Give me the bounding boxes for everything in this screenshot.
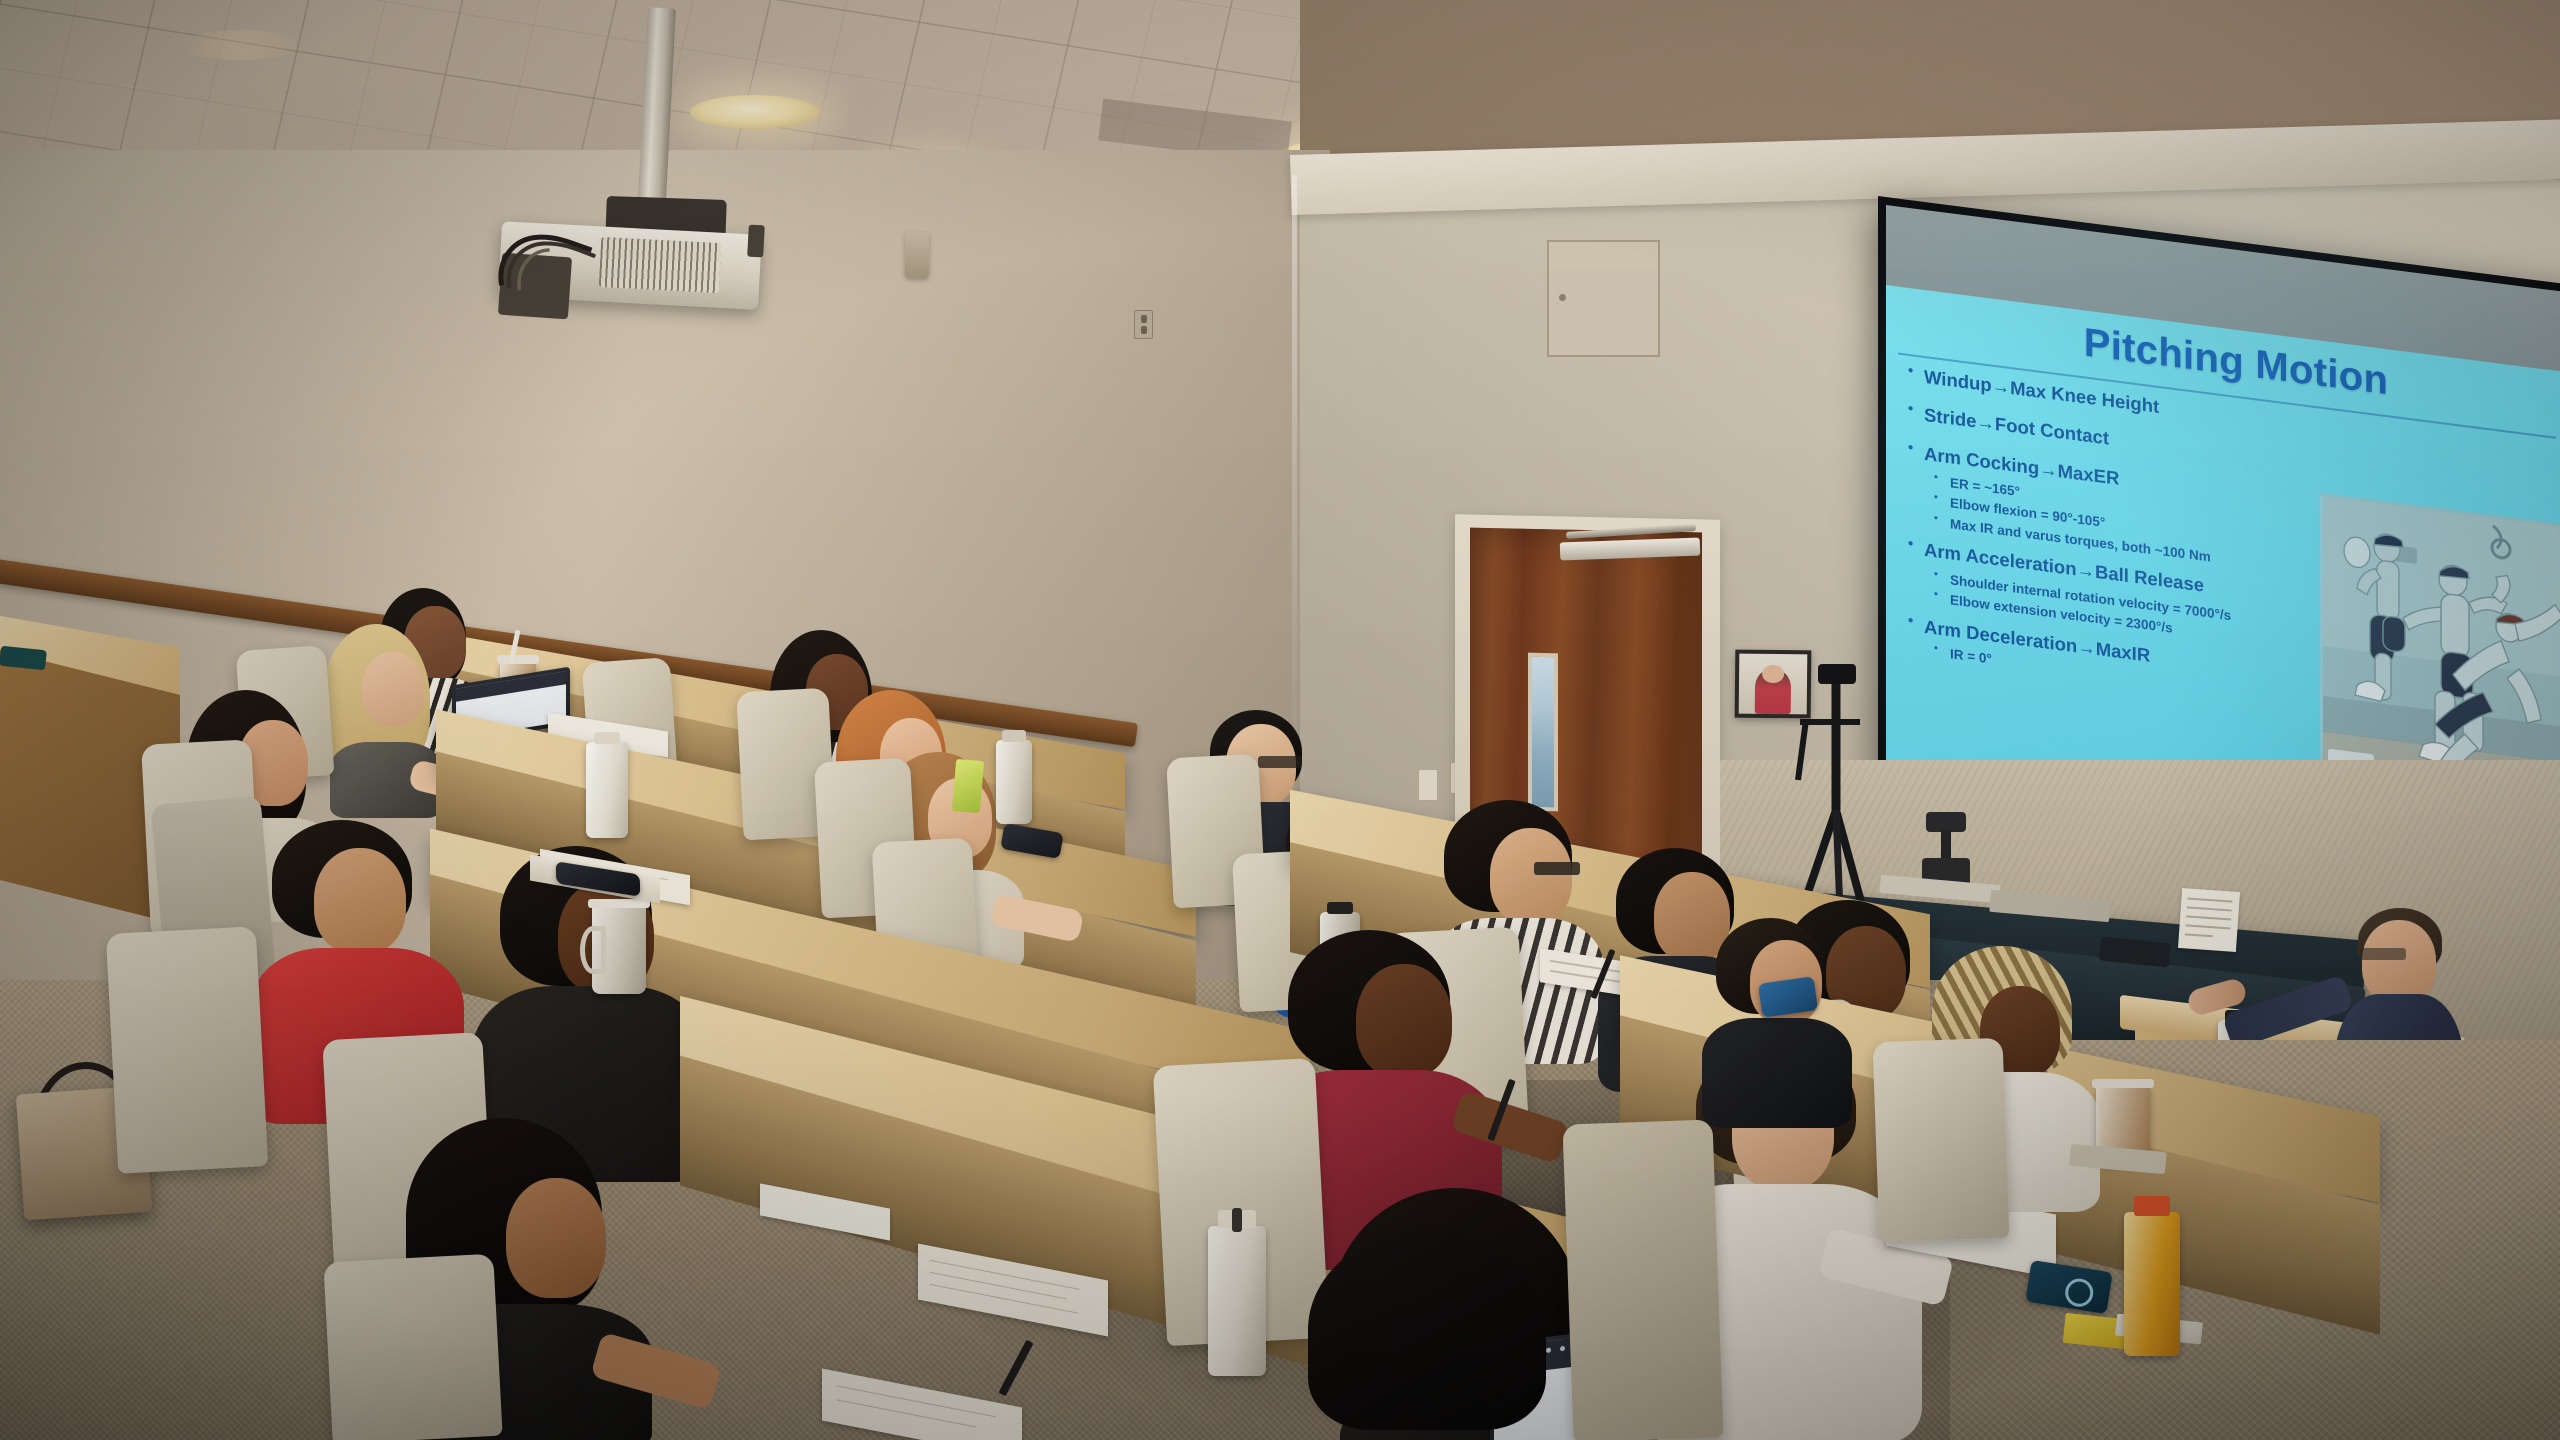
water-bottle[interactable] <box>996 740 1032 824</box>
eyeglasses <box>1258 756 1302 768</box>
projector-antenna <box>747 225 765 258</box>
chair[interactable] <box>1873 1038 2010 1242</box>
projector-cables <box>493 215 612 306</box>
chair[interactable] <box>1562 1119 1723 1440</box>
door-vision-window <box>1528 653 1558 812</box>
access-panel <box>1547 240 1660 357</box>
tumbler[interactable] <box>592 906 646 994</box>
presenter-glasses <box>2360 948 2406 960</box>
projector-vent-grille <box>599 237 721 293</box>
student <box>1308 1230 1608 1440</box>
water-bottle[interactable] <box>586 742 628 838</box>
eyeglasses <box>1534 862 1580 875</box>
sports-drink-bottle[interactable] <box>2124 1212 2180 1356</box>
energy-drink-can[interactable] <box>952 759 984 813</box>
water-bottle[interactable] <box>1208 1226 1266 1376</box>
student <box>1702 918 1862 1118</box>
lecture-hall-photo: Pitching Motion Windup→Max Knee Height S… <box>0 0 2560 1440</box>
slide-bullet-list: Windup→Max Knee Height Stride→Foot Conta… <box>1904 363 2334 715</box>
chair[interactable] <box>106 926 268 1174</box>
chair[interactable] <box>323 1254 502 1440</box>
wall-speaker <box>905 232 929 278</box>
light-switch[interactable] <box>1418 769 1438 801</box>
ceiling-spotlight <box>180 30 300 60</box>
av-instruction-sign <box>2178 888 2240 952</box>
wall-outlet <box>1134 310 1153 339</box>
ceiling-light-fixture <box>690 95 820 129</box>
